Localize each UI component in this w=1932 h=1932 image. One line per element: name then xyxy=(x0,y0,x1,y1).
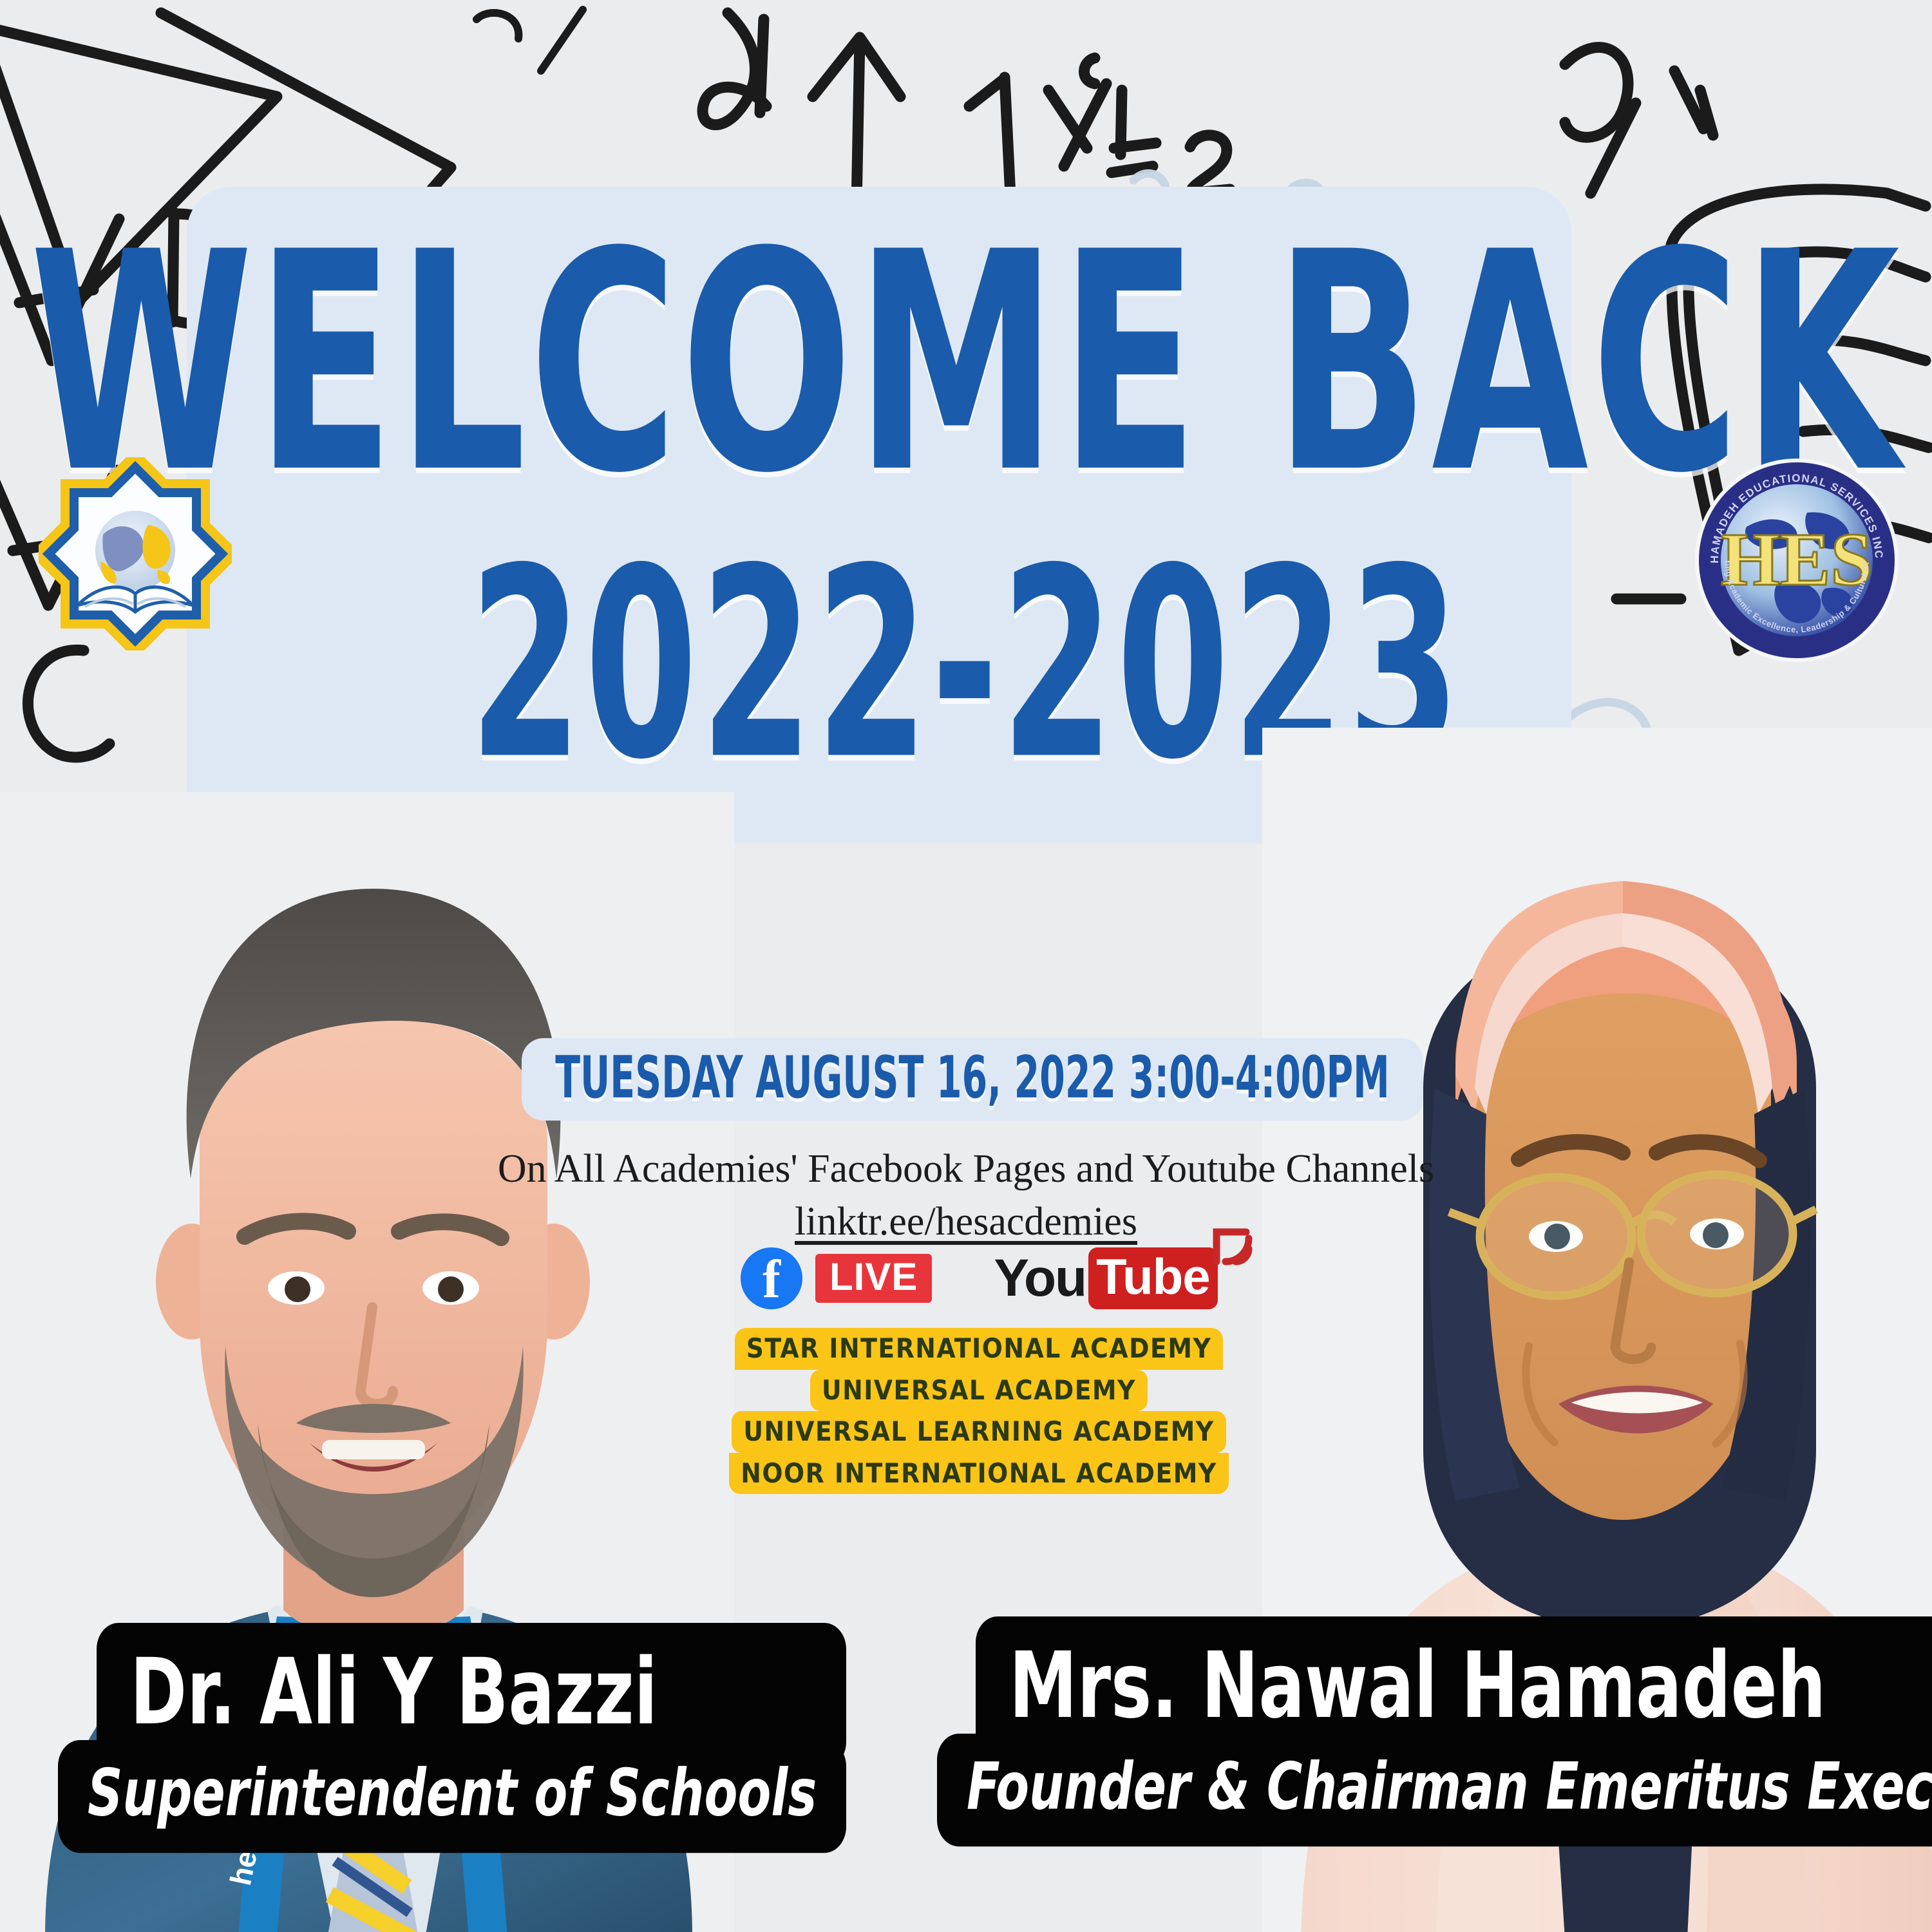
star-academy-globe-book-logo xyxy=(39,457,232,650)
live-badge: LIVE xyxy=(815,1254,932,1303)
academy-badge: UNIVERSAL ACADEMY xyxy=(810,1370,1148,1412)
event-platforms-text: On All Academies' Facebook Pages and You… xyxy=(0,1146,1932,1192)
academy-badge: UNIVERSAL LEARNING ACADEMY xyxy=(732,1411,1226,1453)
event-date-time: TUESDAY AUGUST 16, 2022 3:00-4:00PM xyxy=(480,1043,1465,1112)
hes-logo: HES HAMADEH EDUCATIONAL SERVICES INC. Pr… xyxy=(1687,451,1906,670)
youtube-logo[interactable]: You Tube xyxy=(994,1247,1217,1309)
nameplate-speaker-2: Mrs. Nawal Hamadeh Founder & Chairman Em… xyxy=(937,1616,1932,1828)
facebook-f-glyph: f xyxy=(741,1247,802,1309)
poster-canvas: WELCOME BACK 2022-2023 xyxy=(0,0,1932,1932)
nameplate-speaker-1: Dr. Ali Y Bazzi Superintendent of School… xyxy=(97,1623,846,1834)
social-icons-row: f LIVE You Tube xyxy=(741,1240,1230,1317)
academy-badge: STAR INTERNATIONAL ACADEMY xyxy=(735,1328,1224,1370)
youtube-you-text: You xyxy=(994,1252,1086,1305)
wifi-broadcast-icon xyxy=(1204,1217,1255,1268)
svg-text:HES: HES xyxy=(1721,517,1873,601)
facebook-icon[interactable]: f xyxy=(741,1247,802,1309)
page-title: WELCOME BACK xyxy=(0,213,1932,515)
speaker-role: Founder & Chairman Emeritus Executive xyxy=(937,1734,1932,1846)
academy-badge-list: STAR INTERNATIONAL ACADEMY UNIVERSAL ACA… xyxy=(741,1328,1217,1494)
youtube-tube-text: Tube xyxy=(1088,1247,1218,1309)
academy-badge: NOOR INTERNATIONAL ACADEMY xyxy=(729,1453,1229,1495)
event-link[interactable]: linktr.ee/hesacdemies xyxy=(0,1199,1932,1245)
speaker-role: Superintendent of Schools xyxy=(58,1740,846,1853)
